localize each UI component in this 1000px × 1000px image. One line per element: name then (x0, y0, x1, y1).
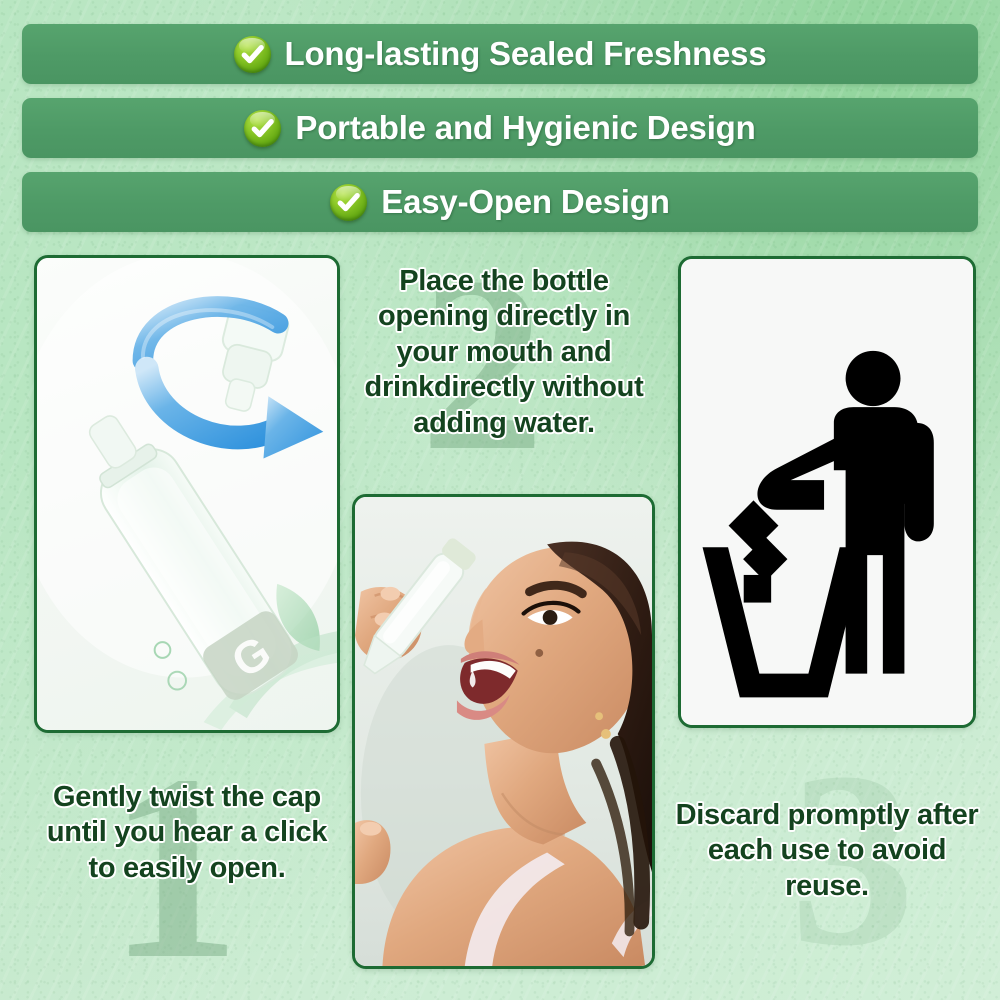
step-3-card (678, 256, 976, 728)
feature-banner-label: Easy-Open Design (381, 183, 669, 221)
check-circle-icon (244, 110, 281, 147)
ampoule-twist-illustration: G (37, 258, 337, 730)
feature-banner-easy-open: Easy-Open Design (22, 172, 978, 232)
bin-shape (703, 547, 866, 697)
feature-banner-long-lasting: Long-lasting Sealed Freshness (22, 24, 978, 84)
check-circle-icon (234, 36, 271, 73)
feature-banner-label: Long-lasting Sealed Freshness (285, 35, 767, 73)
step-1-caption: Gently twist the cap until you hear a cl… (34, 780, 340, 886)
step-2-card (352, 494, 655, 969)
feature-banner-label: Portable and Hygienic Design (295, 109, 755, 147)
discard-in-bin-pictogram (681, 259, 973, 725)
step-2-caption: Place the bottle opening directly in you… (358, 264, 650, 441)
step-1-card: G (34, 255, 340, 733)
woman-drinking-photo (355, 497, 652, 966)
check-circle-icon (330, 184, 367, 221)
feature-banner-portable: Portable and Hygienic Design (22, 98, 978, 158)
step-3-caption: Discard promptly after each use to avoid… (672, 798, 982, 904)
